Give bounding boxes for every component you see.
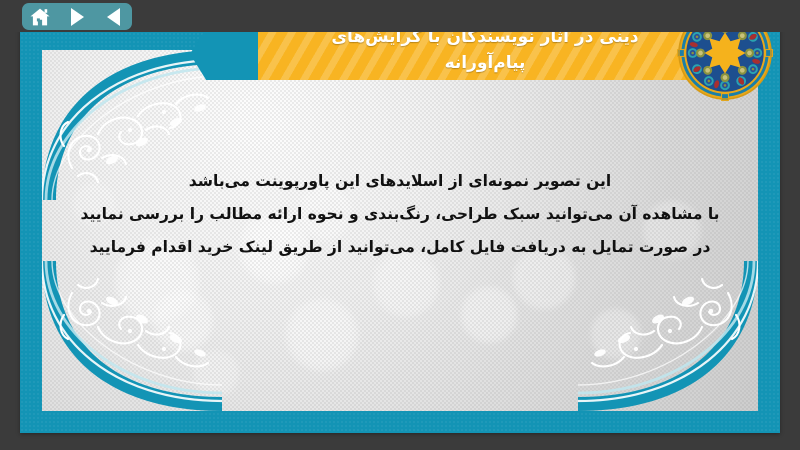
- body-line-1: این تصویر نمونه‌ای از اسلایدهای این پاور…: [72, 165, 728, 198]
- body-line-2: با مشاهده آن می‌توانید سبک طراحی، رنگ‌بن…: [72, 198, 728, 231]
- arrow-left-icon: [107, 8, 120, 26]
- back-button[interactable]: [100, 6, 128, 28]
- slide-body-text: این تصویر نمونه‌ای از اسلایدهای این پاور…: [72, 165, 728, 264]
- bokeh-orb: [460, 286, 518, 344]
- forward-button[interactable]: [63, 6, 91, 28]
- home-button[interactable]: [26, 6, 54, 28]
- bokeh-orb: [192, 350, 240, 398]
- bokeh-orb: [285, 298, 359, 372]
- slide-viewer: این تصویر نمونه‌ای از اسلایدهای این پاور…: [0, 0, 800, 450]
- navigation-controls: [22, 3, 132, 30]
- body-line-3: در صورت تمایل به دریافت فایل کامل، می‌تو…: [72, 231, 728, 264]
- bokeh-orb: [590, 308, 642, 360]
- bokeh-orb: [152, 290, 214, 352]
- arrow-right-icon: [71, 8, 84, 26]
- title-line-3: پیام‌آورانه: [250, 50, 720, 76]
- home-icon: [29, 7, 51, 27]
